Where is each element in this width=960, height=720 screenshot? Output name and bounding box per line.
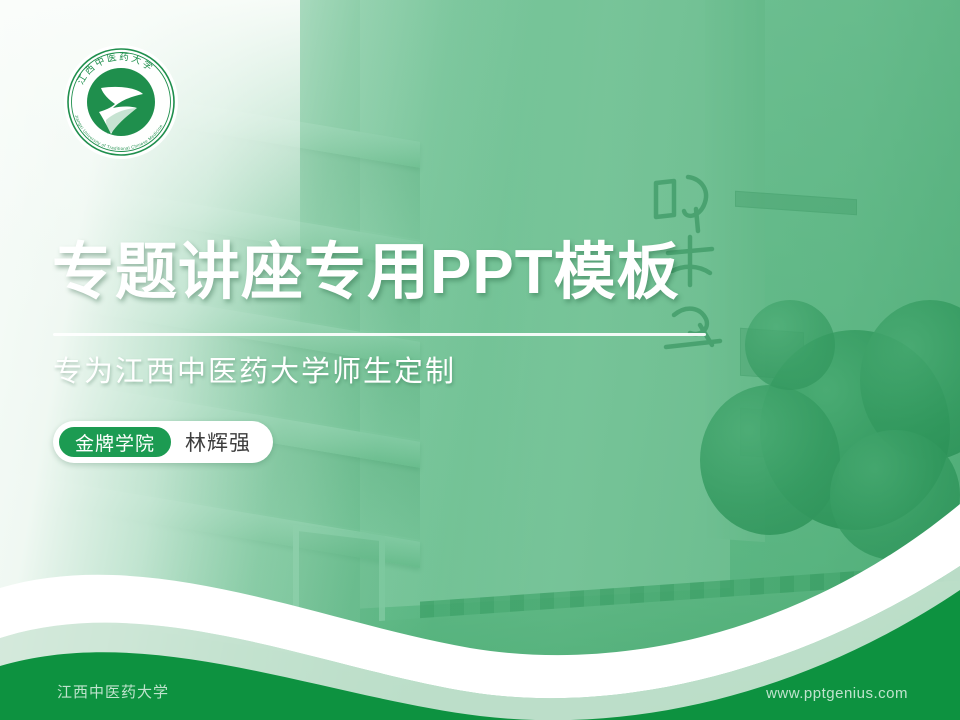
presentation-title-slide: 江西中医药大学 Jiangxi University of Traditiona… <box>0 0 960 720</box>
slide-subtitle: 专为江西中医药大学师生定制 <box>53 348 456 390</box>
slide-title: 专题讲座专用PPT模板 <box>52 238 680 307</box>
footer-website-url[interactable]: www.pptgenius.com <box>766 685 908 702</box>
badge-presenter-name: 林辉强 <box>185 427 251 457</box>
presenter-badge: 金牌学院 林辉强 <box>53 421 273 463</box>
title-divider <box>53 333 706 336</box>
footer-university-name: 江西中医药大学 <box>57 681 169 702</box>
badge-college-tag: 金牌学院 <box>57 425 173 459</box>
university-logo: 江西中医药大学 Jiangxi University of Traditiona… <box>61 42 181 162</box>
